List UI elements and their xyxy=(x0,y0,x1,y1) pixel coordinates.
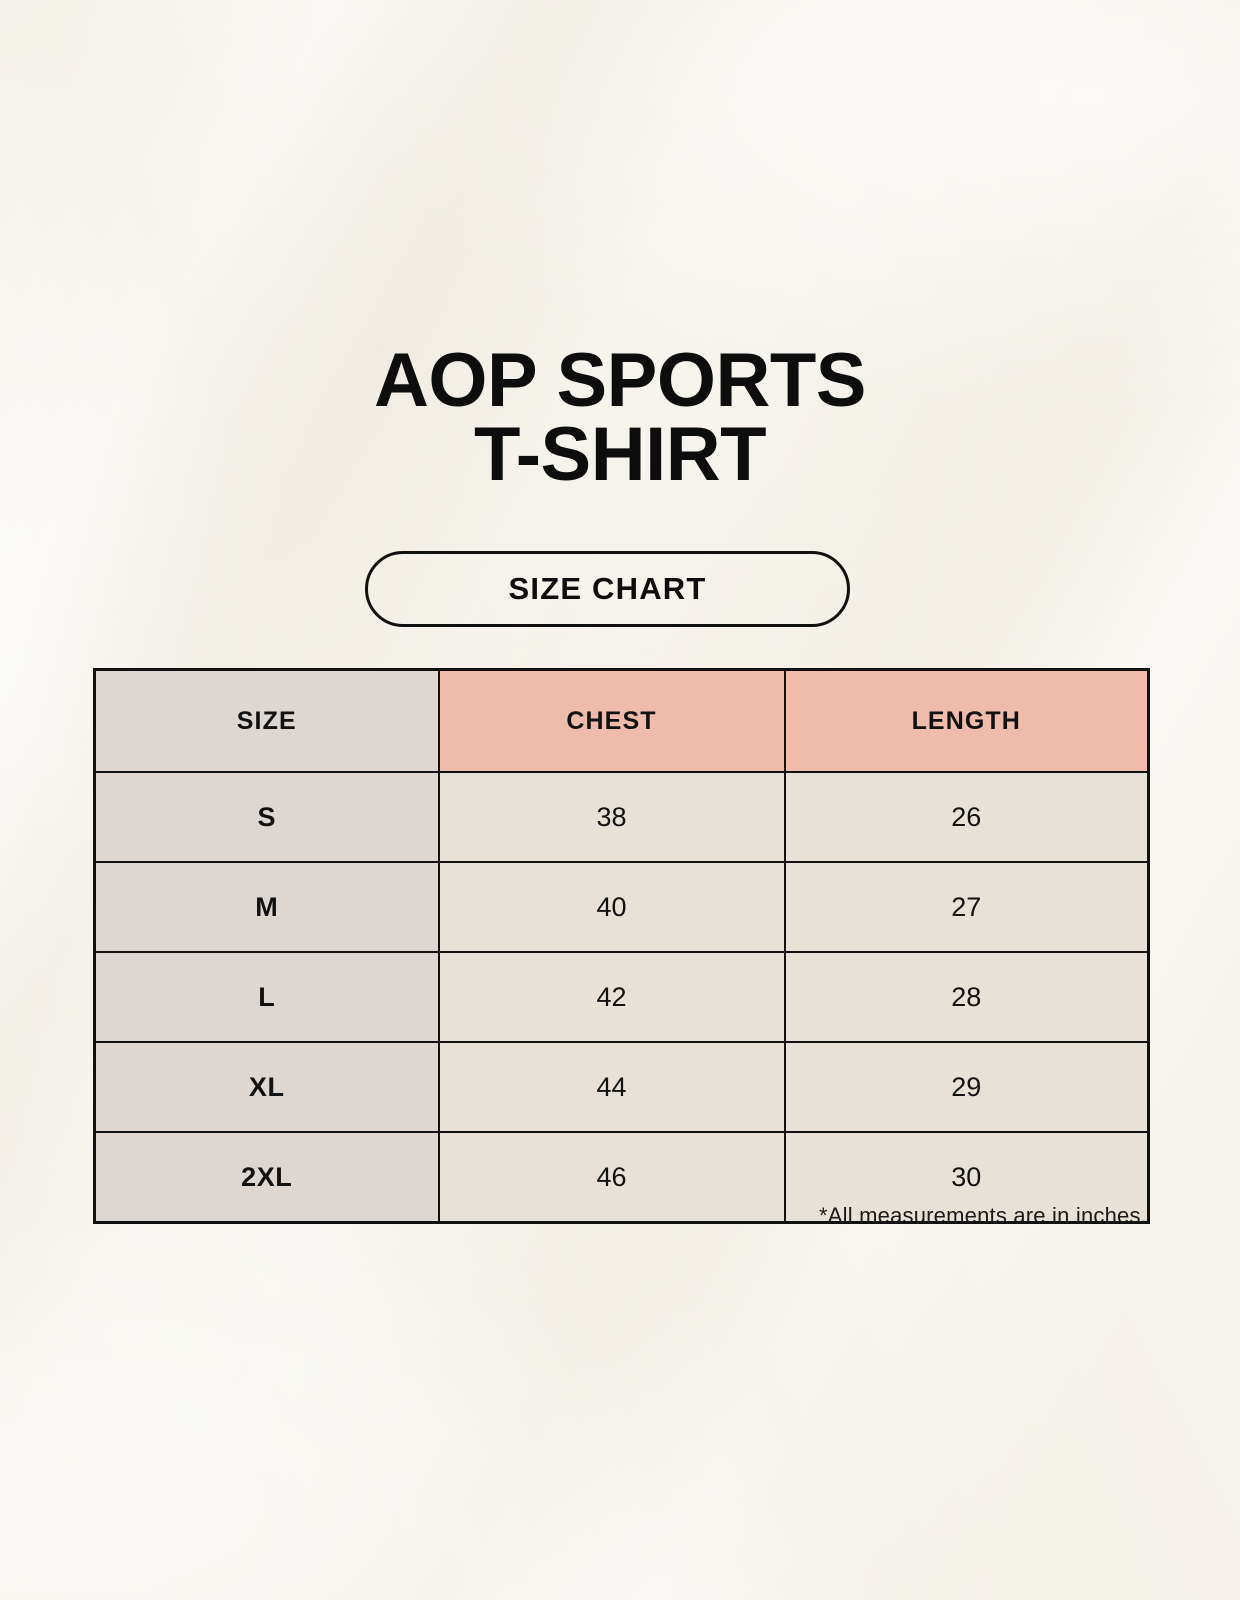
table-row: XL 44 29 xyxy=(95,1042,1149,1132)
cell-length: 27 xyxy=(785,862,1149,952)
cell-length: 28 xyxy=(785,952,1149,1042)
table-header-row: SIZE CHEST LENGTH xyxy=(95,670,1149,773)
cell-chest: 40 xyxy=(439,862,785,952)
size-table-container: SIZE CHEST LENGTH S 38 26 M 40 27 xyxy=(93,668,1147,1224)
cell-length: 29 xyxy=(785,1042,1149,1132)
cell-size: L xyxy=(95,952,439,1042)
page-title: AOP SPORTS T-SHIRT xyxy=(0,344,1240,492)
column-header-chest: CHEST xyxy=(439,670,785,773)
size-table-head: SIZE CHEST LENGTH xyxy=(95,670,1149,773)
size-table-body: S 38 26 M 40 27 L 42 28 XL xyxy=(95,772,1149,1223)
column-header-size: SIZE xyxy=(95,670,439,773)
size-chart-page: AOP SPORTS T-SHIRT SIZE CHART SIZE CHEST… xyxy=(0,0,1240,1600)
measurements-footnote: *All measurements are in inches. xyxy=(0,1203,1147,1229)
cell-length: 26 xyxy=(785,772,1149,862)
size-chart-badge-label: SIZE CHART xyxy=(509,571,707,607)
column-header-length: LENGTH xyxy=(785,670,1149,773)
cell-size: XL xyxy=(95,1042,439,1132)
size-chart-badge: SIZE CHART xyxy=(365,551,850,627)
size-table: SIZE CHEST LENGTH S 38 26 M 40 27 xyxy=(93,668,1150,1224)
table-row: L 42 28 xyxy=(95,952,1149,1042)
cell-size: M xyxy=(95,862,439,952)
cell-size: S xyxy=(95,772,439,862)
table-row: M 40 27 xyxy=(95,862,1149,952)
cell-chest: 42 xyxy=(439,952,785,1042)
table-row: S 38 26 xyxy=(95,772,1149,862)
cell-chest: 38 xyxy=(439,772,785,862)
cell-chest: 44 xyxy=(439,1042,785,1132)
